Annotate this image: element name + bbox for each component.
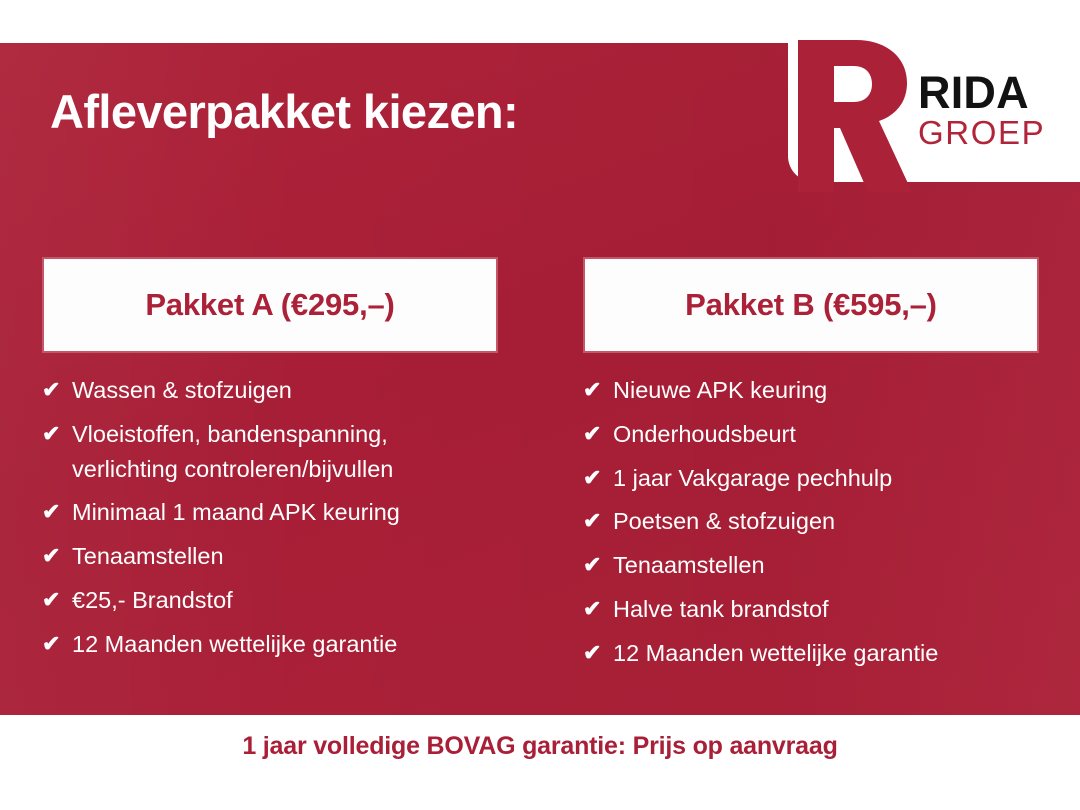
check-icon: ✔ [42, 373, 72, 406]
check-icon: ✔ [583, 548, 613, 581]
brand-wordmark: RIDA GROEP [918, 71, 1078, 151]
list-item: ✔ Tenaamstellen [42, 539, 498, 574]
feature-label: 12 Maanden wettelijke garantie [72, 627, 482, 662]
check-icon: ✔ [583, 417, 613, 450]
footer-note: 1 jaar volledige BOVAG garantie: Prijs o… [242, 732, 837, 761]
package-b-title: Pakket B (€595,–) [685, 287, 937, 323]
package-a-title: Pakket A (€295,–) [145, 287, 394, 323]
delivery-package-poster: Afleverpakket kiezen: RIDA GROEP Pakket … [0, 0, 1080, 810]
list-item: ✔ 12 Maanden wettelijke garantie [583, 636, 1039, 671]
check-icon: ✔ [583, 636, 613, 669]
check-icon: ✔ [42, 539, 72, 572]
feature-label: Vloeistoffen, bandenspanning, verlichtin… [72, 417, 482, 487]
package-b-feature-list: ✔ Nieuwe APK keuring ✔ Onderhoudsbeurt ✔… [583, 373, 1039, 670]
brand-subtitle: GROEP [918, 116, 1078, 151]
feature-label: 1 jaar Vakgarage pechhulp [613, 461, 1023, 496]
list-item: ✔ Vloeistoffen, bandenspanning, verlicht… [42, 417, 498, 487]
list-item: ✔ Onderhoudsbeurt [583, 417, 1039, 452]
brand-name: RIDA [918, 71, 1078, 114]
feature-label: Tenaamstellen [613, 548, 1023, 583]
list-item: ✔ 12 Maanden wettelijke garantie [42, 627, 498, 662]
check-icon: ✔ [583, 504, 613, 537]
feature-label: Halve tank brandstof [613, 592, 1023, 627]
package-a-header-card[interactable]: Pakket A (€295,–) [42, 257, 498, 353]
footer-band: 1 jaar volledige BOVAG garantie: Prijs o… [0, 715, 1080, 810]
feature-label: Onderhoudsbeurt [613, 417, 1023, 452]
check-icon: ✔ [583, 592, 613, 625]
list-item: ✔ 1 jaar Vakgarage pechhulp [583, 461, 1039, 496]
package-column-a: Pakket A (€295,–) ✔ Wassen & stofzuigen … [42, 257, 498, 670]
package-a-feature-list: ✔ Wassen & stofzuigen ✔ Vloeistoffen, ba… [42, 373, 498, 661]
rida-r-monogram-icon [794, 40, 912, 188]
check-icon: ✔ [42, 627, 72, 660]
list-item: ✔ Nieuwe APK keuring [583, 373, 1039, 408]
brand-logo-panel: RIDA GROEP [788, 43, 1080, 182]
check-icon: ✔ [42, 495, 72, 528]
feature-label: Nieuwe APK keuring [613, 373, 1023, 408]
list-item: ✔ Halve tank brandstof [583, 592, 1039, 627]
feature-label: Minimaal 1 maand APK keuring [72, 495, 482, 530]
check-icon: ✔ [42, 417, 72, 450]
feature-label: Wassen & stofzuigen [72, 373, 482, 408]
list-item: ✔ €25,- Brandstof [42, 583, 498, 618]
feature-label: Poetsen & stofzuigen [613, 504, 1023, 539]
package-column-b: Pakket B (€595,–) ✔ Nieuwe APK keuring ✔… [583, 257, 1039, 679]
check-icon: ✔ [583, 461, 613, 494]
list-item: ✔ Wassen & stofzuigen [42, 373, 498, 408]
feature-label: 12 Maanden wettelijke garantie [613, 636, 1023, 671]
page-title: Afleverpakket kiezen: [50, 88, 518, 135]
feature-label: €25,- Brandstof [72, 583, 482, 618]
list-item: ✔ Poetsen & stofzuigen [583, 504, 1039, 539]
check-icon: ✔ [42, 583, 72, 616]
package-b-header-card[interactable]: Pakket B (€595,–) [583, 257, 1039, 353]
list-item: ✔ Minimaal 1 maand APK keuring [42, 495, 498, 530]
check-icon: ✔ [583, 373, 613, 406]
list-item: ✔ Tenaamstellen [583, 548, 1039, 583]
feature-label: Tenaamstellen [72, 539, 482, 574]
